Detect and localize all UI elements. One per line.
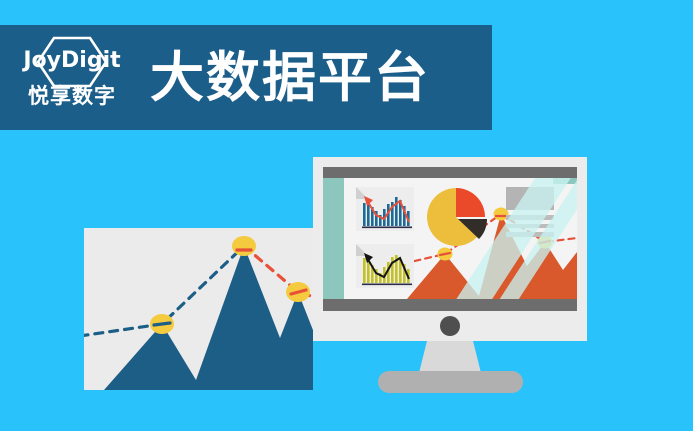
yellow-bar-chart — [362, 252, 412, 286]
axis-line — [362, 284, 412, 286]
monitor-stand-base — [378, 371, 523, 393]
pie-slice-red — [456, 188, 485, 217]
page-title: 大数据平台 — [150, 51, 430, 105]
blue-bar-chart-card — [356, 187, 414, 231]
blue-bar-chart — [362, 195, 412, 229]
brand-logo: JoyDigit 悦享数字 — [12, 30, 132, 125]
monitor-bezel-top — [323, 167, 577, 178]
screen-band-left — [323, 178, 344, 299]
data-point-marker — [232, 236, 256, 256]
mountain-area-shape — [84, 246, 313, 390]
monitor-screen — [323, 178, 577, 299]
left-mountain-chart — [84, 228, 313, 390]
monitor-bezel-bottom — [323, 299, 577, 311]
logo-wordmark: JoyDigit — [23, 50, 120, 72]
screen-pie-chart — [425, 186, 487, 248]
yellow-bar-chart-card — [356, 244, 414, 288]
header-banner: JoyDigit 悦享数字 大数据平台 — [0, 25, 492, 130]
monitor-power-button[interactable] — [440, 316, 460, 336]
illustration-canvas: JoyDigit 悦享数字 大数据平台 — [0, 0, 693, 431]
marker-dash-overlay — [154, 323, 170, 325]
desktop-monitor — [313, 157, 587, 341]
left-chart-panel — [84, 228, 313, 390]
logo-subtitle: 悦享数字 — [28, 86, 116, 107]
axis-line — [362, 227, 412, 229]
